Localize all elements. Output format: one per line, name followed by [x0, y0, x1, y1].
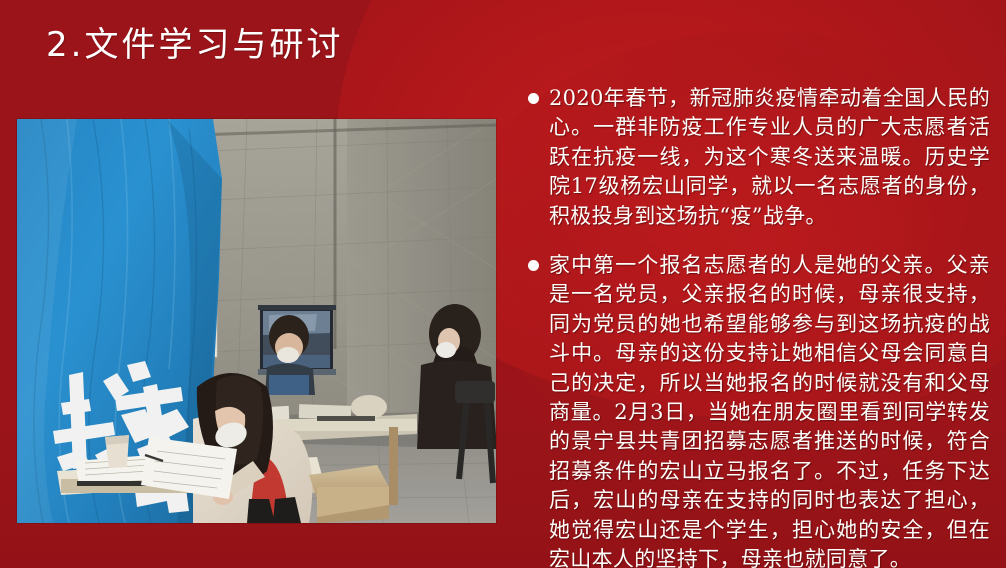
- bullet-point-icon: [528, 93, 539, 104]
- paragraph-text: 家中第一个报名志愿者的人是她的父亲。父亲是一名党员，父亲报名的时候，母亲很支持，…: [549, 251, 990, 568]
- slide-title: 2.文件学习与研讨: [46, 22, 343, 68]
- volunteer-photo: [17, 119, 496, 523]
- paragraph-text: 2020年春节，新冠肺炎疫情牵动着全国人民的心。一群非防疫工作专业人员的广大志愿…: [549, 84, 990, 231]
- photo-illustration: [17, 119, 496, 523]
- bullet-point-icon: [528, 260, 539, 271]
- presentation-slide: 2.文件学习与研讨: [0, 0, 1006, 568]
- body-text-column: 2020年春节，新冠肺炎疫情牵动着全国人民的心。一群非防疫工作专业人员的广大志愿…: [528, 84, 990, 568]
- bullet-paragraph-1: 2020年春节，新冠肺炎疫情牵动着全国人民的心。一群非防疫工作专业人员的广大志愿…: [528, 84, 990, 231]
- bullet-paragraph-2: 家中第一个报名志愿者的人是她的父亲。父亲是一名党员，父亲报名的时候，母亲很支持，…: [528, 251, 990, 568]
